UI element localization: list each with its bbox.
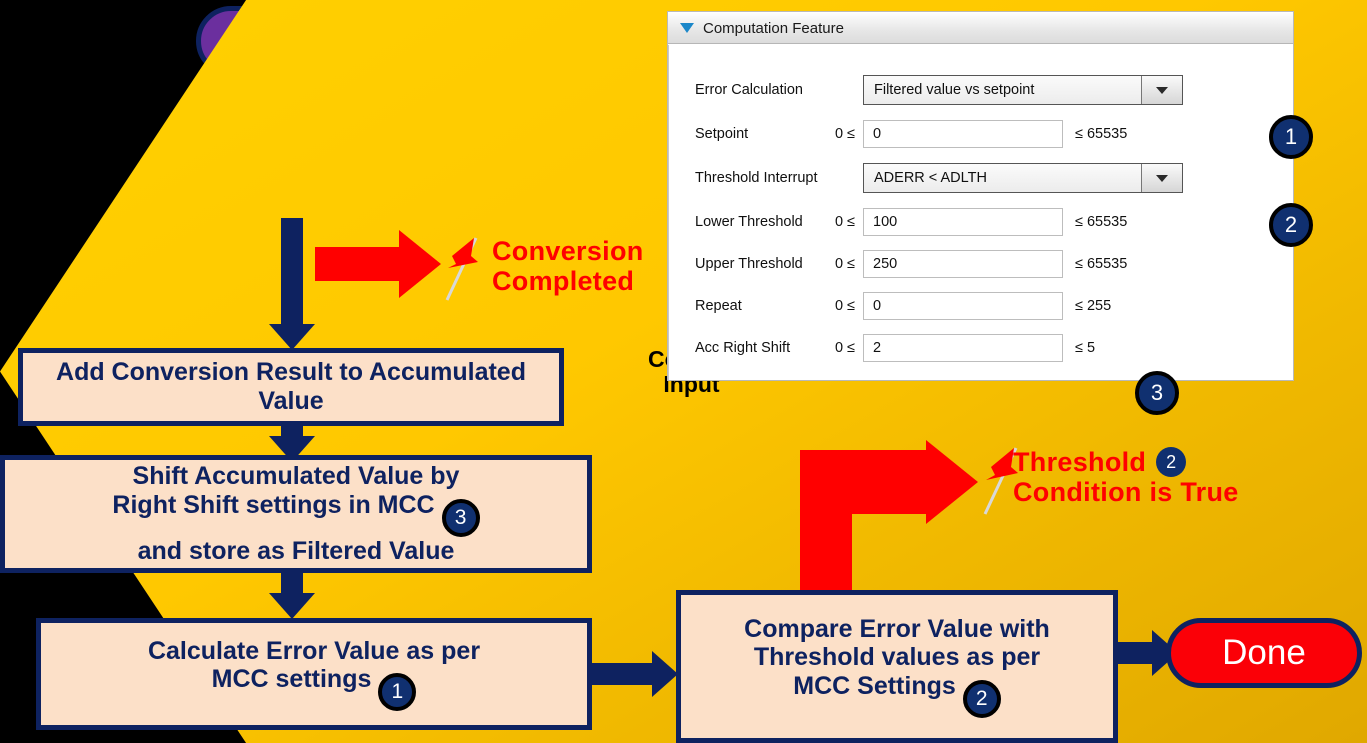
threshold-condition-line2: Condition is True xyxy=(1013,477,1313,507)
compare-error-text: Compare Error Value with Threshold value… xyxy=(736,615,1058,719)
input-setpoint[interactable]: 0 xyxy=(863,120,1063,148)
calculate-error-text: Calculate Error Value as per MCC setting… xyxy=(140,637,488,712)
flow-box-shift-accumulated-value[interactable]: Shift Accumulated Value by Right Shift s… xyxy=(0,455,592,573)
combo-value-threshold-interrupt: ADERR < ADLTH xyxy=(864,170,987,186)
badge-3-shift: 3 xyxy=(442,499,480,537)
panel-header[interactable]: Computation Feature xyxy=(668,12,1293,44)
calc-line1: Calculate Error Value as per xyxy=(148,637,480,665)
row-repeat: Repeat 0 ≤ 0 ≤ 255 xyxy=(669,291,1294,321)
label-threshold-interrupt: Threshold Interrupt xyxy=(669,170,829,186)
callout-threshold-condition: Threshold 2 Condition is True xyxy=(1013,447,1313,507)
input-value-upper-threshold: 250 xyxy=(864,256,897,272)
combo-error-calculation[interactable]: Filtered value vs setpoint xyxy=(863,75,1183,105)
flow-node-done[interactable]: Done xyxy=(1166,618,1362,688)
dropdown-button-error-calculation[interactable] xyxy=(1141,76,1182,104)
max-acc-right-shift: ≤ 5 xyxy=(1063,340,1095,356)
max-lower-threshold: ≤ 65535 xyxy=(1063,214,1127,230)
badge-2-compare: 2 xyxy=(963,680,1001,718)
min-repeat: 0 ≤ xyxy=(829,298,863,314)
max-upper-threshold: ≤ 65535 xyxy=(1063,256,1127,272)
shift-line1: Shift Accumulated Value by xyxy=(133,462,460,490)
row-setpoint: Setpoint 0 ≤ 0 ≤ 65535 xyxy=(669,119,1294,149)
panel-title: Computation Feature xyxy=(703,20,844,37)
panel-body: Error Calculation Filtered value vs setp… xyxy=(668,45,1293,380)
threshold-condition-line1: Threshold xyxy=(1013,447,1146,477)
input-lower-threshold[interactable]: 100 xyxy=(863,208,1063,236)
combo-value-error-calculation: Filtered value vs setpoint xyxy=(864,82,1034,98)
input-value-setpoint: 0 xyxy=(864,126,881,142)
label-setpoint: Setpoint xyxy=(669,126,829,142)
input-value-acc-right-shift: 2 xyxy=(864,340,881,356)
label-upper-threshold: Upper Threshold xyxy=(669,256,829,272)
add-conversion-result-text: Add Conversion Result to Accumulated Val… xyxy=(23,358,559,416)
red-elbow-arrow-threshold-condition xyxy=(800,450,1000,590)
red-arrow-conversion-completed xyxy=(315,230,441,298)
compare-line3: MCC Settings xyxy=(793,672,956,700)
calc-line2: MCC settings xyxy=(212,665,372,693)
label-lower-threshold: Lower Threshold xyxy=(669,214,829,230)
min-upper-threshold: 0 ≤ xyxy=(829,256,863,272)
chevron-down-icon[interactable] xyxy=(680,23,694,33)
done-label: Done xyxy=(1222,633,1306,673)
label-error-calculation: Error Calculation xyxy=(669,82,829,98)
shift-line3: and store as Filtered Value xyxy=(138,537,455,565)
shift-line2: Right Shift settings in MCC xyxy=(112,491,434,519)
flow-node-convert-input[interactable]: Convert Input xyxy=(0,0,146,98)
input-upper-threshold[interactable]: 250 xyxy=(863,250,1063,278)
badge-1-calculate: 1 xyxy=(378,673,416,711)
screenshot-canvas: Trigger Convert Input Conversion Complet… xyxy=(0,0,1367,743)
min-lower-threshold: 0 ≤ xyxy=(829,214,863,230)
badge-2-threshold-callout: 2 xyxy=(1156,447,1186,477)
badge-3-panel: 3 xyxy=(1135,371,1179,415)
max-repeat: ≤ 255 xyxy=(1063,298,1111,314)
arrow-calculate-to-compare xyxy=(592,651,678,697)
compare-line2: Threshold values as per xyxy=(754,643,1040,671)
row-error-calculation: Error Calculation Filtered value vs setp… xyxy=(669,75,1294,105)
shift-accumulated-text: Shift Accumulated Value by Right Shift s… xyxy=(104,462,487,566)
flow-box-calculate-error-value[interactable]: Calculate Error Value as per MCC setting… xyxy=(36,618,592,730)
min-acc-right-shift: 0 ≤ xyxy=(829,340,863,356)
caret-down-icon-threshold-interrupt xyxy=(1156,175,1168,182)
combo-threshold-interrupt[interactable]: ADERR < ADLTH xyxy=(863,163,1183,193)
row-upper-threshold: Upper Threshold 0 ≤ 250 ≤ 65535 xyxy=(669,249,1294,279)
compare-line1: Compare Error Value with xyxy=(744,615,1050,643)
arrow-shift-to-calculate xyxy=(269,571,315,621)
arrow-convert-to-add xyxy=(269,218,315,352)
caret-down-icon-error-calculation xyxy=(1156,87,1168,94)
input-repeat[interactable]: 0 xyxy=(863,292,1063,320)
dropdown-button-threshold-interrupt[interactable] xyxy=(1141,164,1182,192)
computation-feature-panel: Computation Feature Error Calculation Fi… xyxy=(668,12,1293,380)
min-setpoint: 0 ≤ xyxy=(829,126,863,142)
flag-icon-conversion xyxy=(434,232,494,304)
row-lower-threshold: Lower Threshold 0 ≤ 100 ≤ 65535 xyxy=(669,207,1294,237)
input-acc-right-shift[interactable]: 2 xyxy=(863,334,1063,362)
flow-box-add-conversion-result[interactable]: Add Conversion Result to Accumulated Val… xyxy=(18,348,564,426)
label-acc-right-shift: Acc Right Shift xyxy=(669,340,829,356)
max-setpoint: ≤ 65535 xyxy=(1063,126,1127,142)
label-repeat: Repeat xyxy=(669,298,829,314)
input-value-repeat: 0 xyxy=(864,298,881,314)
row-threshold-interrupt: Threshold Interrupt ADERR < ADLTH xyxy=(669,163,1294,193)
input-value-lower-threshold: 100 xyxy=(864,214,897,230)
row-acc-right-shift: Acc Right Shift 0 ≤ 2 ≤ 5 xyxy=(669,333,1294,363)
flow-box-compare-error-value[interactable]: Compare Error Value with Threshold value… xyxy=(676,590,1118,743)
